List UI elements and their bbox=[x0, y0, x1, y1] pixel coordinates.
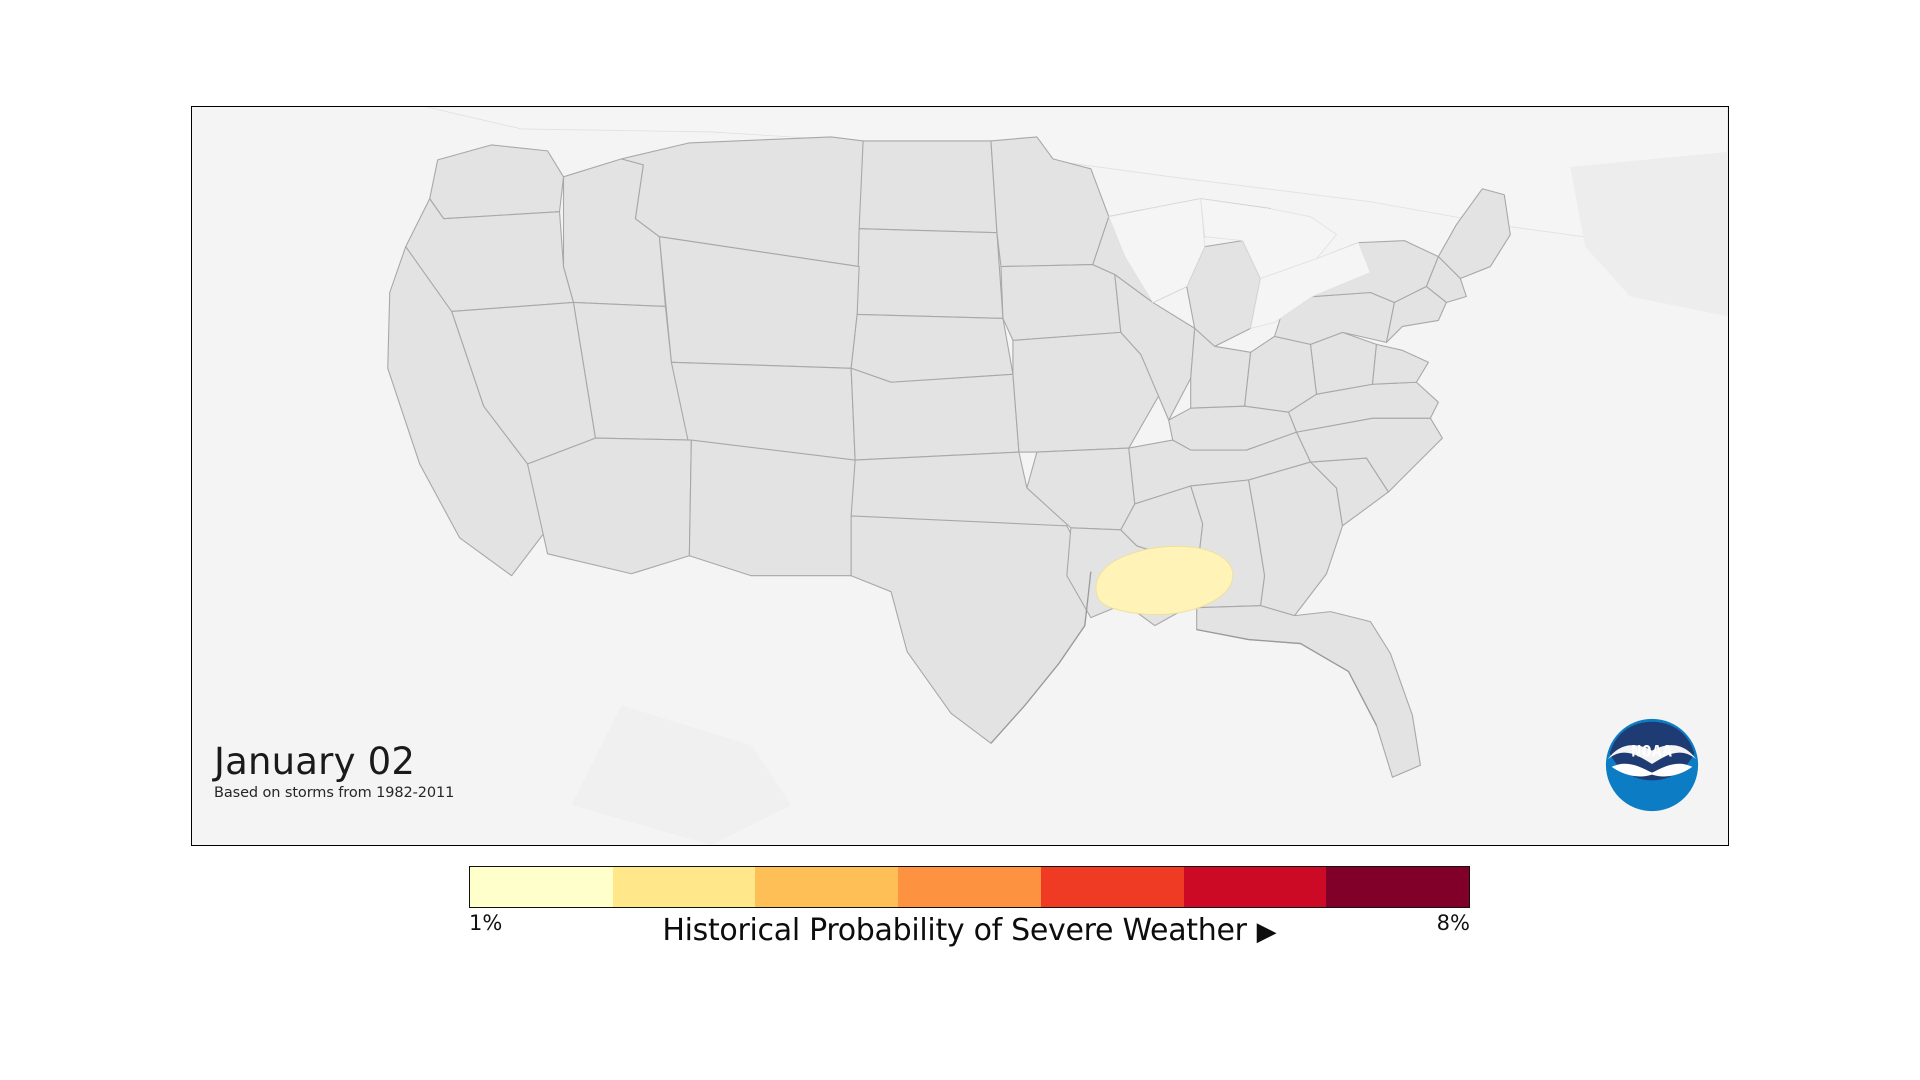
state-west-virginia bbox=[1311, 332, 1377, 394]
colorbar-band-2[interactable] bbox=[613, 867, 756, 907]
state-south-dakota bbox=[857, 229, 1003, 319]
state-arizona bbox=[528, 438, 692, 574]
play-arrow-icon[interactable]: ▶ bbox=[1257, 918, 1277, 944]
colorbar-max-label: 8% bbox=[1437, 911, 1470, 935]
state-iowa bbox=[1001, 265, 1121, 341]
us-map-graphic: .land { fill:#e3e3e3; stroke:#a8a8a8; st… bbox=[192, 107, 1728, 845]
colorbar-caption-group: Historical Probability of Severe Weather… bbox=[469, 913, 1470, 948]
noaa-logo-text: NOAA bbox=[1631, 741, 1672, 760]
state-kansas bbox=[851, 368, 1019, 460]
colorbar-legend[interactable]: 1% Historical Probability of Severe Weat… bbox=[469, 866, 1470, 955]
state-washington bbox=[430, 145, 564, 219]
colorbar-band-6[interactable] bbox=[1184, 867, 1327, 907]
colorbar-gradient[interactable] bbox=[469, 866, 1470, 908]
colorbar-band-4[interactable] bbox=[898, 867, 1041, 907]
map-title-block: January 02 Based on storms from 1982-201… bbox=[214, 743, 454, 801]
state-nebraska bbox=[851, 314, 1013, 382]
state-north-dakota bbox=[859, 141, 997, 233]
colorbar-band-7[interactable] bbox=[1326, 867, 1469, 907]
colorbar-band-3[interactable] bbox=[755, 867, 898, 907]
colorbar-band-1[interactable] bbox=[470, 867, 613, 907]
page-title: January 02 bbox=[214, 743, 454, 780]
map-panel[interactable]: .land { fill:#e3e3e3; stroke:#a8a8a8; st… bbox=[191, 106, 1729, 846]
noaa-logo: NOAA bbox=[1604, 717, 1700, 813]
colorbar-band-5[interactable] bbox=[1041, 867, 1184, 907]
colorbar-labels-row: 1% Historical Probability of Severe Weat… bbox=[469, 909, 1470, 955]
colorbar-caption: Historical Probability of Severe Weather bbox=[662, 913, 1246, 948]
map-subtitle: Based on storms from 1982-2011 bbox=[214, 785, 454, 801]
state-new-mexico bbox=[689, 440, 855, 576]
severe-weather-probability-map-page: .land { fill:#e3e3e3; stroke:#a8a8a8; st… bbox=[0, 0, 1920, 1080]
